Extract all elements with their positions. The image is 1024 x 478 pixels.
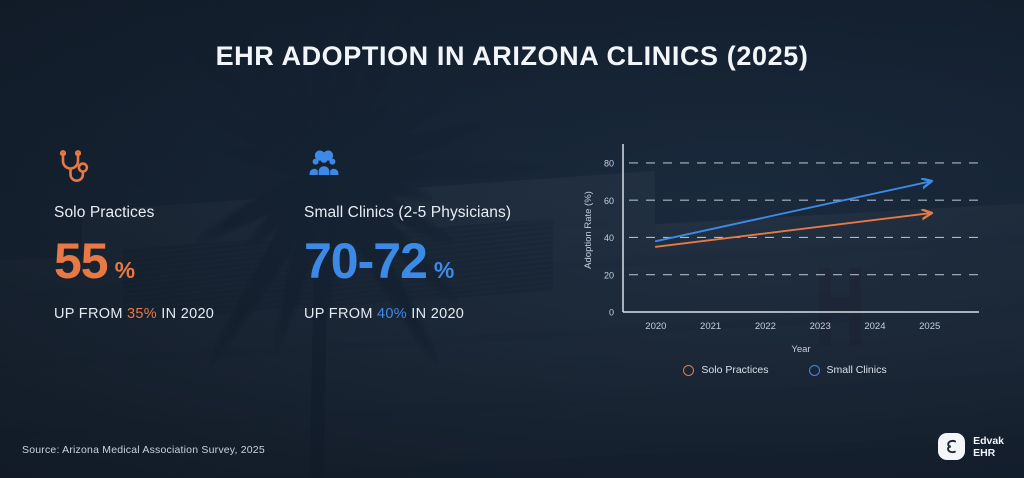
stat-value: 70-72 [304, 233, 427, 289]
svg-text:2020: 2020 [645, 321, 666, 332]
legend-marker-icon [683, 365, 694, 376]
stat-subtext: UP FROM 35% IN 2020 [54, 306, 304, 322]
stat-sub-suffix: IN 2020 [407, 306, 464, 322]
legend-item-solo-practices: Solo Practices [683, 364, 768, 376]
adoption-line-chart: 020406080202020212022202320242025YearAdo… [575, 134, 995, 392]
brand-line-2: EHR [973, 447, 1004, 459]
stat-unit: % [434, 257, 454, 283]
stethoscope-icon [54, 148, 304, 188]
brand-text: Edvak EHR [973, 435, 1004, 459]
stat-subtext: UP FROM 40% IN 2020 [304, 306, 554, 322]
stat-card-small-clinics: Small Clinics (2-5 Physicians) 70-72% UP… [304, 148, 554, 322]
svg-text:Year: Year [791, 344, 810, 355]
chart-svg: 020406080202020212022202320242025YearAdo… [575, 134, 995, 392]
brand-line-1: Edvak [973, 435, 1004, 447]
stat-sub-suffix: IN 2020 [157, 306, 214, 322]
legend-label: Small Clinics [827, 364, 887, 376]
svg-text:2022: 2022 [755, 321, 776, 332]
legend-label: Solo Practices [701, 364, 768, 376]
stat-sub-value: 40% [377, 306, 407, 322]
page-title: EHR ADOPTION IN ARIZONA CLINICS (2025) [0, 41, 1024, 72]
stat-unit: % [115, 257, 135, 283]
svg-text:2023: 2023 [810, 321, 831, 332]
stat-sub-value: 35% [127, 306, 157, 322]
svg-text:0: 0 [609, 308, 614, 318]
svg-text:20: 20 [604, 270, 614, 280]
svg-text:40: 40 [604, 233, 614, 243]
svg-text:2024: 2024 [864, 321, 885, 332]
source-note: Source: Arizona Medical Association Surv… [22, 444, 265, 456]
legend-marker-icon [809, 365, 820, 376]
infographic-canvas: EHR ADOPTION IN ARIZONA CLINICS (2025) S… [0, 0, 1024, 478]
chart-legend: Solo Practices Small Clinics [575, 364, 995, 376]
stat-caption: Solo Practices [54, 204, 304, 222]
stat-value-group: 55% [54, 236, 304, 286]
svg-text:2021: 2021 [700, 321, 721, 332]
edvak-e-logo-icon [938, 433, 965, 460]
stat-caption: Small Clinics (2-5 Physicians) [304, 204, 554, 222]
stat-value-group: 70-72% [304, 236, 554, 286]
people-group-icon [304, 148, 554, 188]
svg-text:80: 80 [604, 159, 614, 169]
stat-value: 55 [54, 233, 108, 289]
svg-text:2025: 2025 [919, 321, 940, 332]
stats-row: Solo Practices 55% UP FROM 35% IN 2020 [54, 148, 554, 322]
stat-card-solo-practices: Solo Practices 55% UP FROM 35% IN 2020 [54, 148, 304, 322]
svg-text:Adoption Rate (%): Adoption Rate (%) [583, 191, 594, 269]
stat-sub-prefix: UP FROM [304, 306, 377, 322]
stat-sub-prefix: UP FROM [54, 306, 127, 322]
legend-item-small-clinics: Small Clinics [809, 364, 887, 376]
brand-logo: Edvak EHR [938, 433, 1004, 460]
svg-text:60: 60 [604, 196, 614, 206]
